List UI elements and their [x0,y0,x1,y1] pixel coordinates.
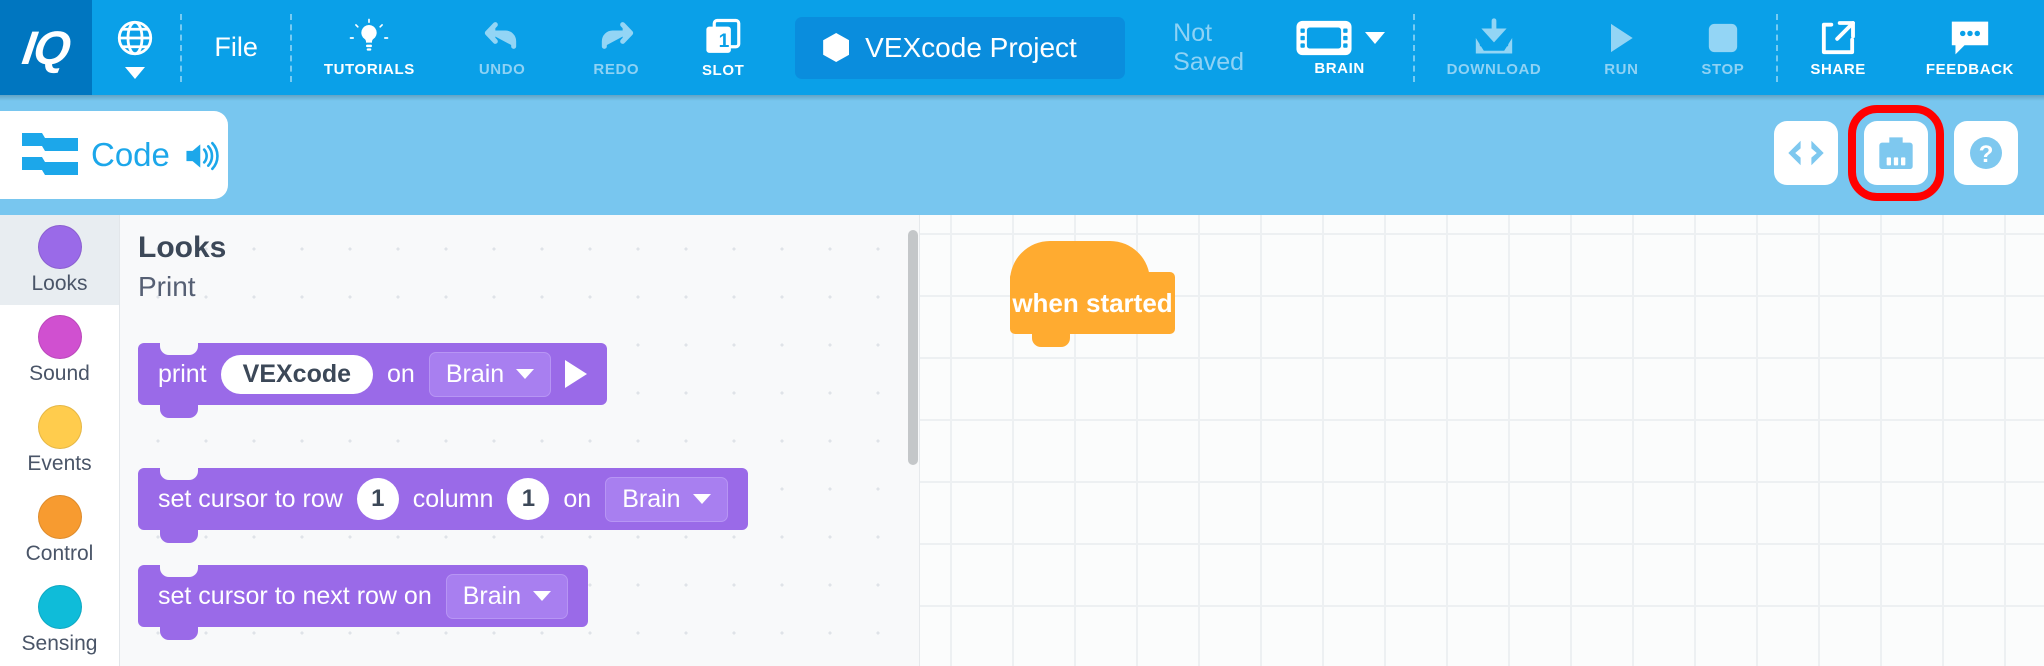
sidebar-item-label: Looks [31,272,87,296]
column-input[interactable]: 1 [507,478,549,520]
row-input[interactable]: 1 [357,478,399,520]
play-icon [1601,18,1641,58]
sidebar-item-label: Control [26,542,94,566]
sensing-color-dot [38,585,82,629]
svg-text:?: ? [1979,141,1994,168]
share-label: SHARE [1810,61,1866,78]
block-when-started[interactable]: when started [1010,272,1175,334]
sidebar-item-sensing[interactable]: Sensing [0,575,119,665]
brain-label: BRAIN [1314,60,1365,77]
palette-category-title: Looks [120,215,920,265]
set-cursor-lead-label: set cursor to row [158,485,343,514]
toolbar-divider-4 [1776,14,1778,82]
undo-label: UNDO [479,61,526,78]
download-icon [1471,18,1517,58]
toolbar-divider-2 [290,14,292,82]
print-text-input[interactable]: VEXcode [221,355,373,394]
when-started-label: when started [1012,288,1172,319]
feedback-icon [1948,18,1992,58]
run-button[interactable]: RUN [1571,0,1671,95]
speaker-icon[interactable] [183,140,217,170]
lightbulb-icon [349,18,389,58]
tutorials-button[interactable]: TUTORIALS [294,0,445,95]
set-cursor-on-label: on [563,485,591,514]
save-status: Not Saved [1173,19,1268,77]
code-brackets-icon[interactable] [1774,121,1838,185]
sidebar-item-label: Sensing [22,632,98,656]
block-palette[interactable]: Looks Print print VEXcode on Brain set c… [120,215,920,666]
set-cursor-mid-label: column [413,485,494,514]
next-row-lead-label: set cursor to next row on [158,582,432,611]
sidebar-item-looks[interactable]: Looks [0,215,119,305]
feedback-label: FEEDBACK [1926,61,2014,78]
set-cursor-device-value: Brain [622,485,680,514]
next-row-device-dropdown[interactable]: Brain [446,574,568,619]
redo-button[interactable]: REDO [559,0,673,95]
tab-code-label: Code [91,136,170,174]
control-color-dot [38,495,82,539]
download-label: DOWNLOAD [1447,61,1542,78]
toolbar-divider-1 [180,14,182,82]
project-name-field[interactable]: VEXcode Project [795,17,1125,79]
run-label: RUN [1604,61,1638,78]
next-row-device-value: Brain [463,582,521,611]
secondary-toolbar: Code [0,95,2044,215]
brain-chevron-down-icon [1365,32,1385,44]
chevron-down-icon [516,369,534,379]
stop-button[interactable]: STOP [1671,0,1774,95]
redo-icon [594,18,638,58]
block-set-cursor-row-column[interactable]: set cursor to row 1 column 1 on Brain [138,468,748,530]
undo-icon [480,18,524,58]
sidebar-item-label: Events [27,452,91,476]
svg-text:1: 1 [719,30,730,51]
block-print-label: print [158,360,207,389]
feedback-button[interactable]: FEEDBACK [1896,0,2044,95]
share-button[interactable]: SHARE [1780,0,1896,95]
stop-label: STOP [1701,61,1744,78]
sidebar-item-sound[interactable]: Sound [0,305,119,395]
globe-icon [114,17,156,59]
iq-logo-text: IQ [19,20,72,75]
stop-icon [1703,18,1743,58]
tab-code[interactable]: Code [0,111,228,199]
palette-subcategory-title: Print [120,265,920,303]
print-device-dropdown[interactable]: Brain [429,352,551,397]
main-toolbar: IQ File [0,0,2044,95]
chevron-down-icon [533,591,551,601]
dashboard-bars-icon[interactable] [1864,121,1928,185]
events-color-dot [38,405,82,449]
sidebar-item-control[interactable]: Control [0,485,119,575]
toolbar-divider-3 [1413,14,1415,82]
download-button[interactable]: DOWNLOAD [1417,0,1572,95]
sound-color-dot [38,315,82,359]
tutorials-label: TUTORIALS [324,61,415,78]
chevron-down-icon [125,67,145,79]
block-print[interactable]: print VEXcode on Brain [138,343,607,405]
editor-body: Looks Sound Events Control Sensing Looks [0,215,2044,666]
blocks-icon [22,130,78,180]
brain-selector[interactable]: BRAIN [1269,0,1411,95]
sidebar-item-events[interactable]: Events [0,395,119,485]
looks-color-dot [38,225,82,269]
iq-logo[interactable]: IQ [0,0,92,95]
print-device-value: Brain [446,360,504,389]
block-play-icon[interactable] [565,360,587,388]
file-menu-button[interactable]: File [184,0,288,95]
project-hexagon-icon [823,33,849,62]
sidebar-item-label: Sound [29,362,90,386]
code-workspace[interactable]: when started [920,215,2044,666]
undo-button[interactable]: UNDO [445,0,560,95]
slot-label: SLOT [702,62,744,79]
set-cursor-device-dropdown[interactable]: Brain [605,477,727,522]
vexcode-iq-app: IQ File [0,0,2044,666]
redo-label: REDO [593,61,639,78]
project-name-value: VEXcode Project [865,32,1077,64]
chevron-down-icon [693,494,711,504]
slot-selector[interactable]: 1 SLOT [673,0,773,95]
hat-dome [1010,241,1150,281]
share-icon [1816,18,1860,58]
question-mark-icon[interactable]: ? [1954,121,2018,185]
print-on-label: on [387,360,415,389]
category-sidebar: Looks Sound Events Control Sensing [0,215,120,666]
palette-scrollbar[interactable] [908,230,918,465]
brain-icon [1295,19,1353,57]
view-toggle-group: ? [1774,121,2018,185]
language-selector[interactable] [92,0,178,95]
block-set-cursor-next-row[interactable]: set cursor to next row on Brain [138,565,588,627]
slot-icon: 1 [701,17,745,59]
